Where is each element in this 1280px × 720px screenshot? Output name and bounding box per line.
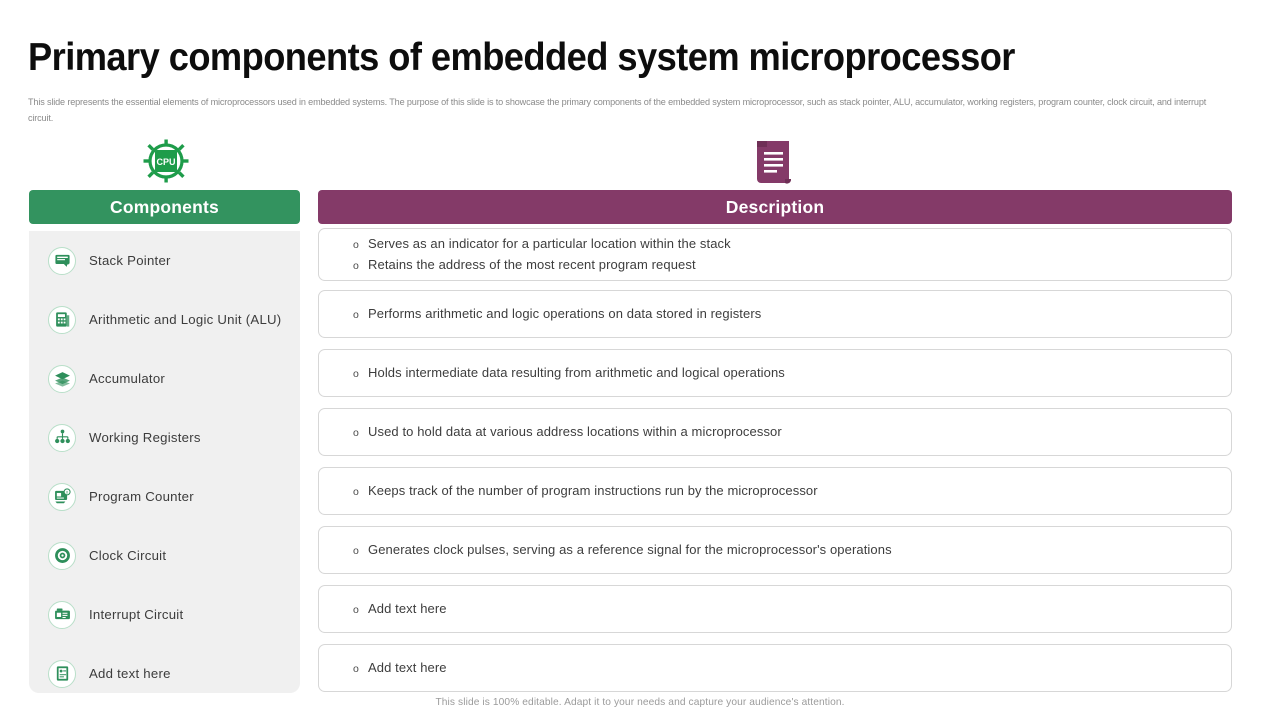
- bullet-marker-icon: o: [353, 306, 368, 325]
- component-row[interactable]: Arithmetic and Logic Unit (ALU): [29, 290, 300, 349]
- description-card[interactable]: oAdd text here: [318, 644, 1232, 692]
- column-header-description-label: Description: [726, 197, 824, 218]
- bullet-marker-icon: o: [353, 660, 368, 679]
- column-header-description: Description: [318, 190, 1232, 224]
- bullet-marker-icon: o: [353, 601, 368, 620]
- component-label: Arithmetic and Logic Unit (ALU): [89, 312, 281, 327]
- placeholder-card-icon: [48, 660, 76, 688]
- description-card[interactable]: oServes as an indicator for a particular…: [318, 228, 1232, 281]
- description-card[interactable]: oHolds intermediate data resulting from …: [318, 349, 1232, 397]
- component-label: Stack Pointer: [89, 253, 171, 268]
- component-row[interactable]: Clock Circuit: [29, 526, 300, 585]
- component-row[interactable]: Add text here: [29, 644, 300, 703]
- alu-calculator-icon: [48, 306, 76, 334]
- bullet-marker-icon: o: [353, 424, 368, 443]
- component-row[interactable]: Stack Pointer: [29, 231, 300, 290]
- description-text: Add text here: [368, 599, 447, 618]
- description-bullet: oAdd text here: [353, 658, 1231, 679]
- component-row[interactable]: Interrupt Circuit: [29, 585, 300, 644]
- footer-note: This slide is 100% editable. Adapt it to…: [0, 697, 1280, 708]
- description-text: Generates clock pulses, serving as a ref…: [368, 540, 892, 559]
- description-bullet: oHolds intermediate data resulting from …: [353, 363, 1231, 384]
- component-label: Working Registers: [89, 430, 201, 445]
- column-header-components: Components: [29, 190, 300, 224]
- svg-text:0: 0: [66, 489, 68, 494]
- component-row[interactable]: 0Program Counter: [29, 467, 300, 526]
- description-bullet: oKeeps track of the number of program in…: [353, 481, 1231, 502]
- cpu-gear-icon: CPU: [142, 138, 190, 184]
- interrupt-circuit-icon: [48, 601, 76, 629]
- description-text: Performs arithmetic and logic operations…: [368, 304, 761, 323]
- description-bullet: oAdd text here: [353, 599, 1231, 620]
- description-text: Keeps track of the number of program ins…: [368, 481, 818, 500]
- component-label: Add text here: [89, 666, 171, 681]
- clock-circuit-icon: [48, 542, 76, 570]
- document-scroll-icon: [755, 138, 795, 186]
- component-row[interactable]: Working Registers: [29, 408, 300, 467]
- working-registers-icon: [48, 424, 76, 452]
- description-text: Serves as an indicator for a particular …: [368, 234, 731, 253]
- page-title: Primary components of embedded system mi…: [28, 36, 1144, 80]
- component-label: Interrupt Circuit: [89, 607, 183, 622]
- description-bullet: oServes as an indicator for a particular…: [353, 234, 1231, 255]
- bullet-marker-icon: o: [353, 542, 368, 561]
- component-label: Clock Circuit: [89, 548, 166, 563]
- svg-text:CPU: CPU: [156, 157, 175, 167]
- bullet-marker-icon: o: [353, 483, 368, 502]
- bullet-marker-icon: o: [353, 236, 368, 255]
- page-subtitle: This slide represents the essential elem…: [28, 94, 1213, 126]
- component-label: Accumulator: [89, 371, 165, 386]
- description-card[interactable]: oKeeps track of the number of program in…: [318, 467, 1232, 515]
- description-card[interactable]: oPerforms arithmetic and logic operation…: [318, 290, 1232, 338]
- accumulator-layers-icon: [48, 365, 76, 393]
- description-bullet: oPerforms arithmetic and logic operation…: [353, 304, 1231, 325]
- slide-root: Primary components of embedded system mi…: [0, 0, 1280, 720]
- component-row[interactable]: Accumulator: [29, 349, 300, 408]
- description-card[interactable]: oUsed to hold data at various address lo…: [318, 408, 1232, 456]
- stack-pointer-icon: [48, 247, 76, 275]
- components-panel: Stack PointerArithmetic and Logic Unit (…: [29, 231, 300, 693]
- description-bullet: oUsed to hold data at various address lo…: [353, 422, 1231, 443]
- description-text: Retains the address of the most recent p…: [368, 255, 696, 274]
- description-card[interactable]: oAdd text here: [318, 585, 1232, 633]
- description-bullet: oRetains the address of the most recent …: [353, 255, 1231, 276]
- description-text: Used to hold data at various address loc…: [368, 422, 782, 441]
- component-label: Program Counter: [89, 489, 194, 504]
- description-bullet: oGenerates clock pulses, serving as a re…: [353, 540, 1231, 561]
- column-header-components-label: Components: [110, 197, 219, 218]
- program-counter-icon: 0: [48, 483, 76, 511]
- description-text: Add text here: [368, 658, 447, 677]
- description-text: Holds intermediate data resulting from a…: [368, 363, 785, 382]
- description-card[interactable]: oGenerates clock pulses, serving as a re…: [318, 526, 1232, 574]
- bullet-marker-icon: o: [353, 365, 368, 384]
- bullet-marker-icon: o: [353, 257, 368, 276]
